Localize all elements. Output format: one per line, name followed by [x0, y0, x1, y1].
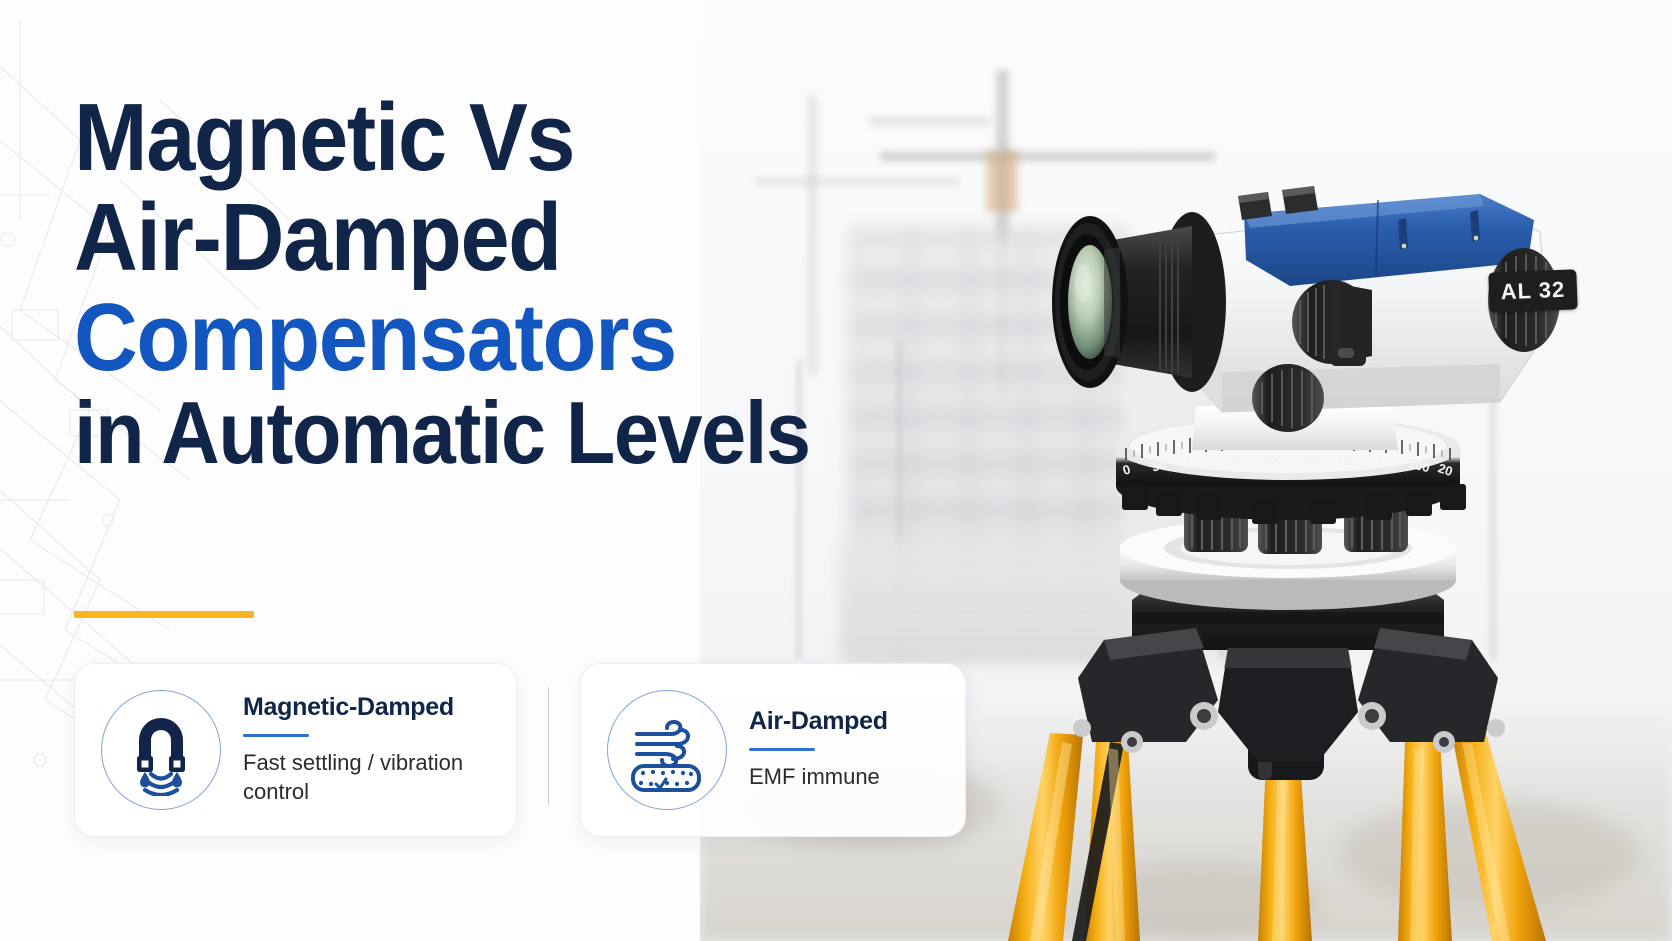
headline-line-4: in Automatic Levels	[74, 387, 865, 479]
tower-crane-cab	[986, 150, 1018, 212]
headline-block: Magnetic Vs Air-Damped Compensators in A…	[74, 88, 934, 479]
card-subtitle: Fast settling / vibration control	[243, 749, 486, 806]
air-icon-circle	[607, 690, 727, 810]
card-text-magnetic: Magnetic-Damped Fast settling / vibratio…	[243, 694, 486, 807]
card-title: Air-Damped	[749, 708, 888, 736]
card-subtitle: EMF immune	[749, 763, 888, 792]
scaffold-pole	[1220, 380, 1226, 660]
hero-banner-canvas: 0 50 310 320 300 290 280 280 200 20	[0, 0, 1672, 941]
headline-line-2: Air-Damped	[74, 188, 865, 288]
feature-cards: Magnetic-Damped Fast settling / vibratio…	[74, 663, 966, 837]
headline-line-3: Compensators	[74, 288, 865, 388]
cards-separator	[517, 663, 580, 829]
ground-blur-blob	[1080, 860, 1320, 940]
scaffold-pole	[1320, 330, 1326, 660]
model-badge-plate: AL 32	[1488, 269, 1577, 312]
ground-blur-blob	[1340, 800, 1640, 910]
magnet-icon-circle	[101, 690, 221, 810]
card-divider-rule	[749, 748, 815, 751]
scaffolding-haze	[840, 540, 1170, 660]
card-air-damped[interactable]: Air-Damped EMF immune	[580, 663, 966, 837]
card-divider-rule	[243, 734, 309, 737]
wind-air-chamber-icon	[621, 704, 713, 796]
amber-accent-bar	[74, 611, 254, 618]
card-magnetic-damped[interactable]: Magnetic-Damped Fast settling / vibratio…	[74, 663, 517, 837]
headline-line-1: Magnetic Vs	[74, 88, 865, 188]
card-title: Magnetic-Damped	[243, 694, 486, 722]
model-badge-label: AL 32	[1500, 277, 1565, 305]
card-text-air: Air-Damped EMF immune	[749, 708, 888, 792]
scaffold-pole	[1490, 360, 1496, 660]
horseshoe-magnet-waves-icon	[115, 704, 207, 796]
vertical-divider-line	[548, 687, 549, 805]
